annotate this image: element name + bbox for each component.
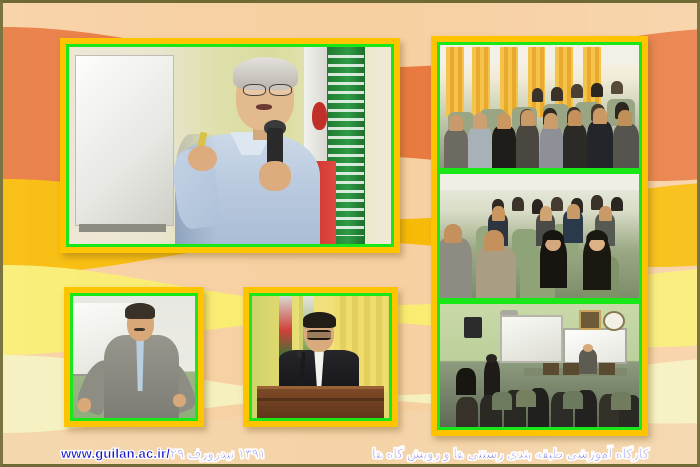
photo-inner-speaker-whiteboard [70, 293, 198, 421]
photo-frame-right-column[interactable] [431, 36, 648, 436]
photo-audience-mixed [440, 174, 639, 297]
caption-right-text: کارگاه آموزشی طبقه بندی رستنی ها و رویش … [372, 446, 649, 461]
photo-speaker-whiteboard [73, 296, 195, 418]
photo-inner-audience-front-rows [437, 42, 642, 171]
photo-inner-main-speaker [66, 44, 394, 247]
poster-canvas: www.guilan.ac.ir/۲۹ فروردین ۱۳۹۱ کارگاه … [0, 0, 700, 467]
photo-frame-speaker-podium[interactable] [243, 287, 398, 427]
photo-main-speaker [69, 47, 391, 244]
caption-left-text: www.guilan.ac.ir/۲۹ فروردین ۱۳۹۱ [61, 446, 266, 461]
photo-lecture-hall-wide [440, 304, 639, 427]
photo-frame-main-speaker[interactable] [60, 38, 400, 253]
photo-audience-front-rows [440, 45, 639, 168]
photo-inner-audience-mixed [437, 171, 642, 300]
photo-speaker-podium [252, 296, 389, 418]
caption-left: www.guilan.ac.ir/۲۹ فروردین ۱۳۹۱ [61, 446, 266, 462]
photo-inner-lecture-hall-wide [437, 301, 642, 430]
caption-right: کارگاه آموزشی طبقه بندی رستنی ها و رویش … [372, 446, 649, 462]
photo-frame-speaker-whiteboard[interactable] [64, 287, 204, 427]
photo-inner-speaker-podium [249, 293, 392, 421]
